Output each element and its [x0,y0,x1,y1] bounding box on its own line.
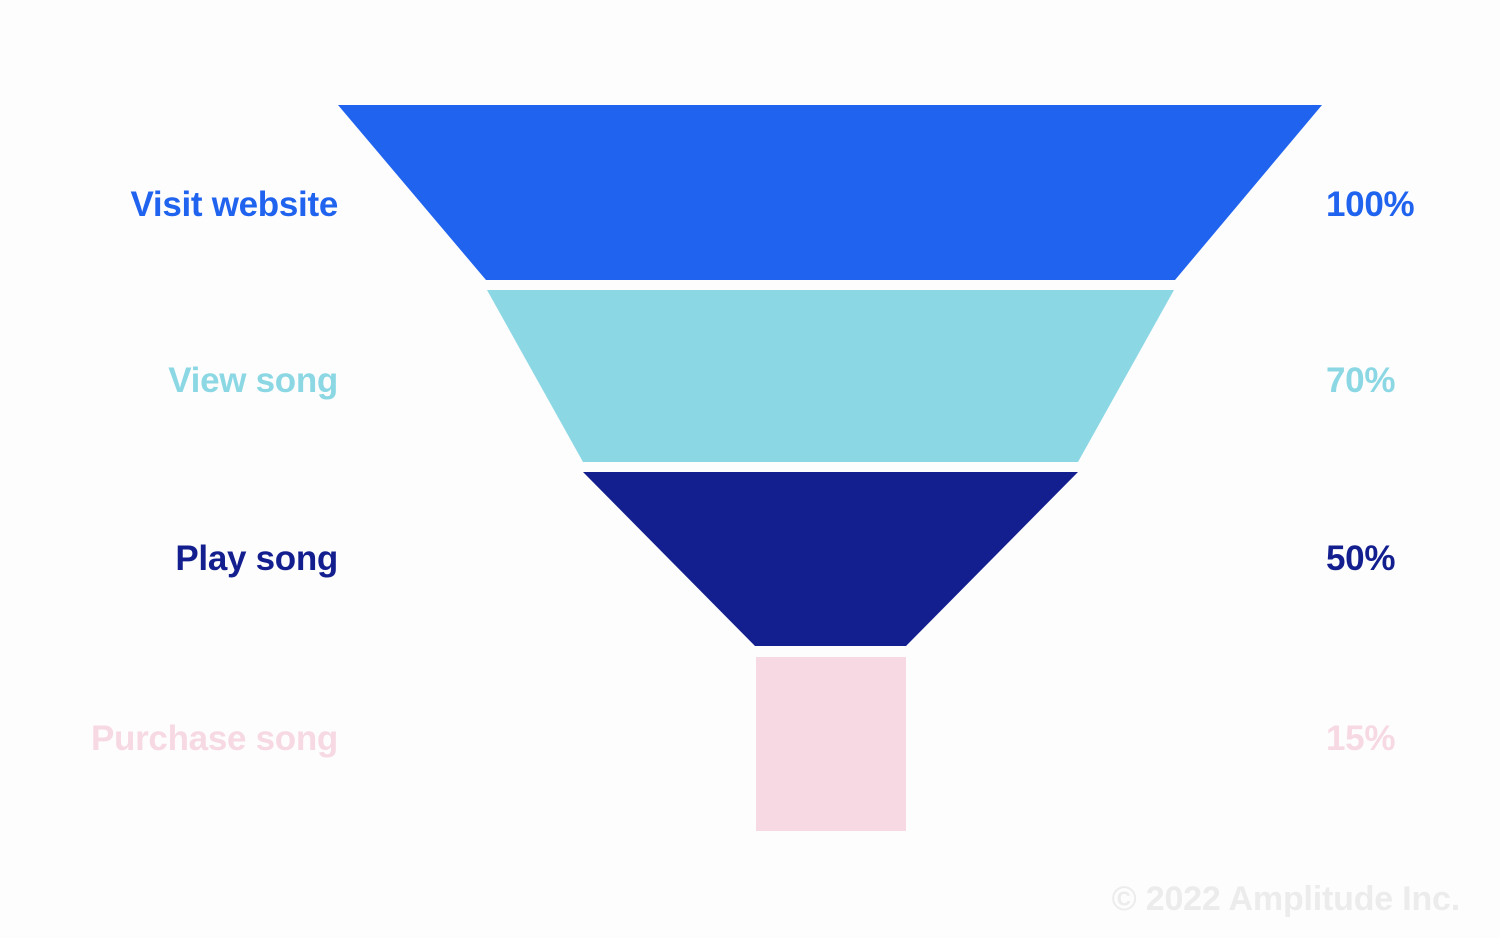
copyright-notice: © 2022 Amplitude Inc. [1112,882,1460,916]
funnel-chart: Visit website View song Play song Purcha… [0,0,1500,938]
stage-value-play-song: 50% [1326,541,1395,576]
funnel-segment-visit-website[interactable] [338,105,1322,280]
stage-label-play-song: Play song [175,541,338,576]
funnel-segment-purchase-song[interactable] [756,657,906,831]
stage-value-visit-website: 100% [1326,187,1414,222]
stage-label-view-song: View song [168,363,338,398]
stage-label-purchase-song: Purchase song [91,721,338,756]
stage-value-view-song: 70% [1326,363,1395,398]
funnel-segment-play-song[interactable] [583,472,1078,646]
funnel-segment-view-song[interactable] [487,290,1174,462]
stage-value-purchase-song: 15% [1326,721,1395,756]
stage-label-visit-website: Visit website [131,187,339,222]
funnel-shape-group [0,0,1500,938]
